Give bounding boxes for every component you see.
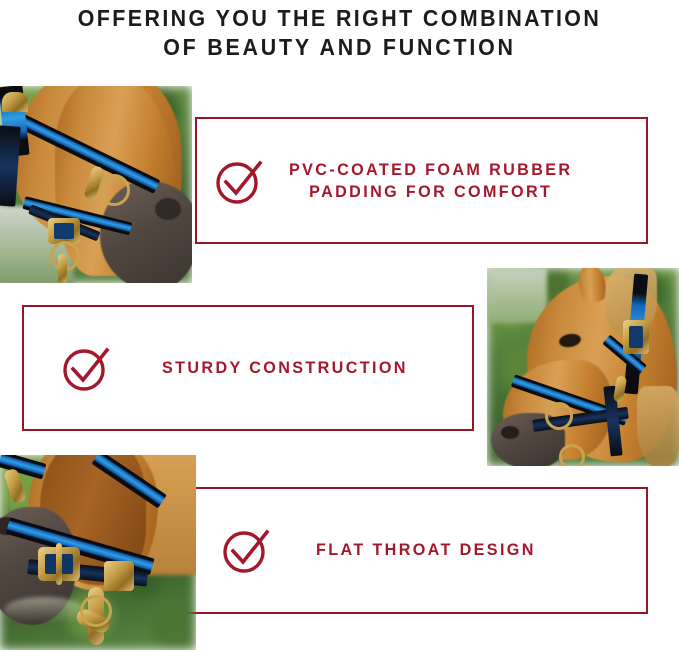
page-title: OFFERING YOU THE RIGHT COMBINATION OF BE… <box>24 0 655 62</box>
check-circle-icon <box>213 155 265 207</box>
feature-label-sturdy-construction: STURDY CONSTRUCTION <box>162 357 408 379</box>
feature-row-sturdy-construction: STURDY CONSTRUCTION <box>60 340 460 396</box>
feature-row-flat-throat-design: FLAT THROAT DESIGN <box>220 522 630 578</box>
headline-line-1: OFFERING YOU THE RIGHT COMBINATION <box>24 4 655 33</box>
feature-row-pvc-coated-foam-rubber-padding: PVC-COATED FOAM RUBBER PADDING FOR COMFO… <box>213 145 633 217</box>
horse-muzzle-closeup-image <box>0 86 192 283</box>
check-circle-icon <box>220 524 272 576</box>
halter-throat-closeup-image <box>0 455 196 650</box>
check-circle-icon <box>60 342 112 394</box>
feature-label-pvc-coated-foam-rubber-padding: PVC-COATED FOAM RUBBER PADDING FOR COMFO… <box>289 159 572 203</box>
feature-label-flat-throat-design: FLAT THROAT DESIGN <box>316 539 536 561</box>
horse-head-profile-image <box>487 268 679 466</box>
headline-line-2: OF BEAUTY AND FUNCTION <box>24 33 655 62</box>
